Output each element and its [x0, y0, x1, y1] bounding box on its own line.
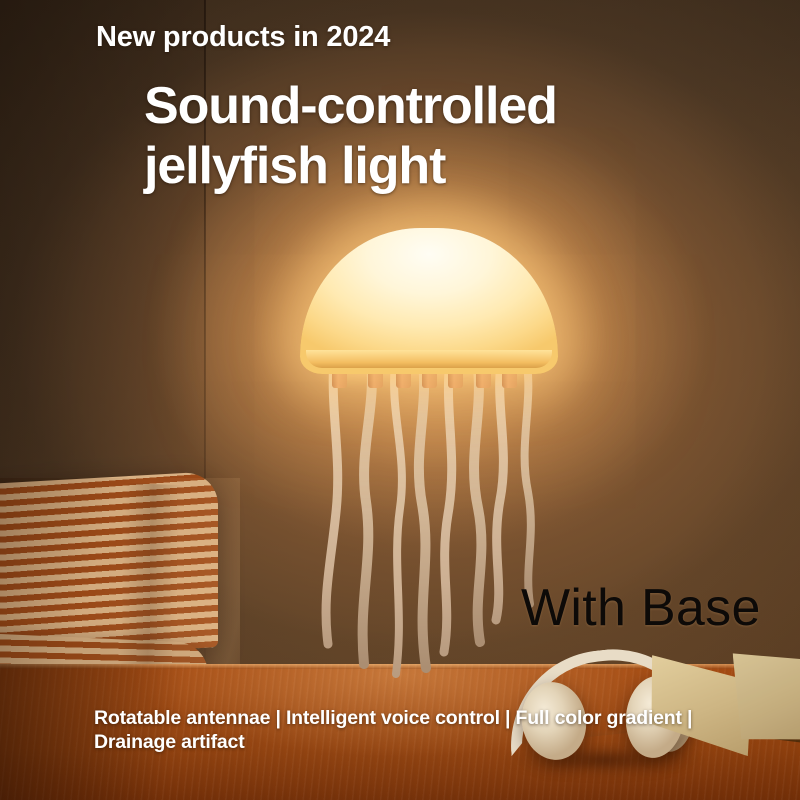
feature-list-text: Rotatable antennae | Intelligent voice c…: [94, 706, 754, 754]
eyebrow-text: New products in 2024: [96, 21, 390, 54]
page-title: Sound-controlled jellyfish light: [144, 76, 557, 197]
product-ad-banner: New products in 2024 Sound-controlled je…: [0, 0, 800, 800]
pillow-upper: [0, 471, 218, 661]
with-base-badge: With Base: [521, 578, 761, 638]
lamp-dome-rim: [306, 350, 552, 368]
